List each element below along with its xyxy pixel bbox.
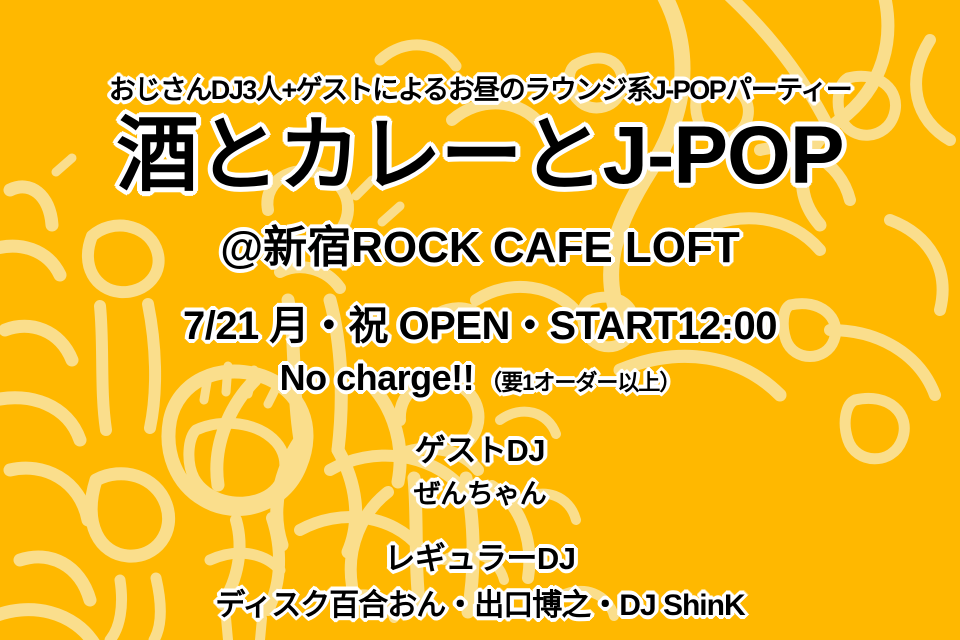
flyer-date-time: 7/21 月・祝 OPEN・START12:00 <box>183 293 777 351</box>
regular-dj-names: ディスク百合おん・出口博之・DJ ShinK <box>215 580 744 624</box>
flyer-main-title: 酒とカレーとJ-POP <box>116 113 843 199</box>
guest-dj-names: ぜんちゃん <box>414 472 547 511</box>
event-flyer: おじさんDJ3人+ゲストによるお昼のラウンジ系J-POPパーティー 酒とカレーと… <box>0 0 960 640</box>
flyer-text-stack: おじさんDJ3人+ゲストによるお昼のラウンジ系J-POPパーティー 酒とカレーと… <box>0 0 960 640</box>
guest-dj-heading: ゲストDJ <box>415 425 545 470</box>
regular-dj-heading: レギュラーDJ <box>384 533 575 578</box>
flyer-charge-row: No charge!! （要1オーダー以上） <box>280 357 681 399</box>
flyer-charge-label: No charge!! <box>280 357 475 399</box>
flyer-charge-note: （要1オーダー以上） <box>480 365 680 397</box>
flyer-venue: @新宿ROCK CAFE LOFT <box>220 211 740 275</box>
flyer-tagline: おじさんDJ3人+ゲストによるお昼のラウンジ系J-POPパーティー <box>109 68 851 107</box>
